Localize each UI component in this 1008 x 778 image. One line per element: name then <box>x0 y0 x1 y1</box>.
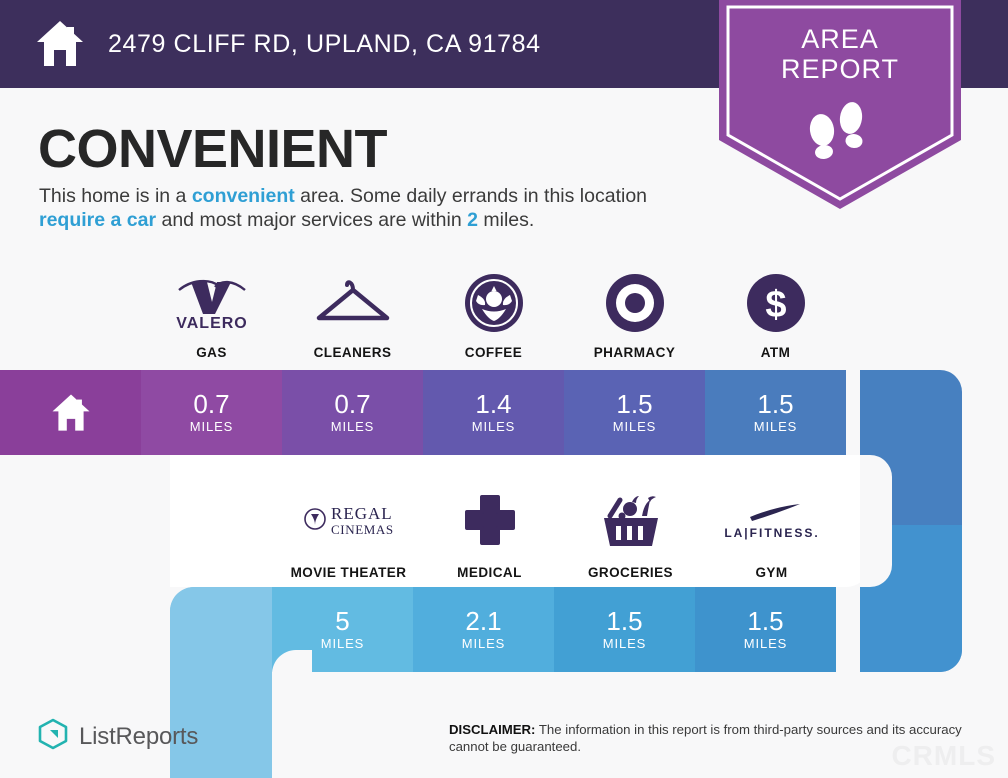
bar2-lead-segment <box>170 587 272 672</box>
distance-value: 5 <box>335 608 349 635</box>
amenity-cleaners: CLEANERS <box>282 272 423 360</box>
amenity-gym: LA|FITNESS. GYM <box>701 492 842 580</box>
distance-value: 0.7 <box>334 391 370 418</box>
regal-cinemas-logo-icon: REGAL CINEMAS <box>301 492 397 554</box>
distance-bar-row-1: 0.7 MILES 0.7 MILES 1.4 MILES 1.5 MILES … <box>0 370 846 455</box>
distance-segment-gas: 0.7 MILES <box>141 370 282 455</box>
grocery-basket-icon <box>598 492 664 554</box>
summary-highlight-1: convenient <box>192 185 295 207</box>
distance-value: 1.4 <box>475 391 511 418</box>
distance-unit: MILES <box>331 419 375 434</box>
badge-line-1: AREA <box>719 24 961 54</box>
amenity-medical: MEDICAL <box>419 492 560 580</box>
svg-text:REGAL: REGAL <box>331 504 393 523</box>
distance-unit: MILES <box>472 419 516 434</box>
amenity-icon-row-2: REGAL CINEMAS MOVIE THEATER MEDICAL <box>278 492 842 580</box>
amenity-label: PHARMACY <box>594 345 676 360</box>
amenity-label: GYM <box>755 565 787 580</box>
amenity-icon-row-1: VALERO GAS CLEANERS <box>141 272 846 360</box>
summary-highlight-3: 2 <box>467 209 478 231</box>
badge-text: AREA REPORT <box>719 24 961 84</box>
disclaimer-label: DISCLAIMER: <box>449 722 535 737</box>
la-fitness-logo-icon: LA|FITNESS. <box>724 492 820 554</box>
target-bullseye-icon <box>605 272 665 334</box>
listreports-house-icon <box>38 718 68 755</box>
distance-segment-pharmacy: 1.5 MILES <box>564 370 705 455</box>
distance-segment-coffee: 1.4 MILES <box>423 370 564 455</box>
dollar-circle-icon: $ <box>746 272 806 334</box>
svg-text:VALERO: VALERO <box>176 315 247 332</box>
distance-segment-cleaners: 0.7 MILES <box>282 370 423 455</box>
starbucks-logo-icon <box>464 272 524 334</box>
home-icon <box>34 19 86 69</box>
page-title: CONVENIENT <box>38 118 387 180</box>
amenity-label: COFFEE <box>465 345 522 360</box>
home-icon <box>49 392 93 434</box>
distance-unit: MILES <box>462 636 506 651</box>
summary-highlight-2: require a car <box>39 209 156 231</box>
hanger-icon <box>311 272 395 334</box>
svg-text:$: $ <box>765 284 786 326</box>
area-report-badge: AREA REPORT <box>719 0 961 209</box>
amenity-groceries: GROCERIES <box>560 492 701 580</box>
connector-right-notch <box>860 455 892 587</box>
distance-value: 2.1 <box>465 608 501 635</box>
amenity-label: GAS <box>196 345 227 360</box>
badge-line-2: REPORT <box>719 54 961 84</box>
distance-value: 1.5 <box>747 608 783 635</box>
amenity-label: GROCERIES <box>588 565 673 580</box>
disclaimer: DISCLAIMER: The information in this repo… <box>449 722 974 755</box>
summary-part-4: miles. <box>478 209 534 231</box>
distance-value: 0.7 <box>193 391 229 418</box>
svg-text:CINEMAS: CINEMAS <box>331 522 394 537</box>
distance-value: 1.5 <box>757 391 793 418</box>
area-report-page: 2479 CLIFF RD, UPLAND, CA 91784 AREA REP… <box>0 0 1008 778</box>
amenity-movie-theater: REGAL CINEMAS MOVIE THEATER <box>278 492 419 580</box>
connector-left-notch <box>272 650 312 778</box>
distance-unit: MILES <box>613 419 657 434</box>
amenity-label: MEDICAL <box>457 565 522 580</box>
distance-segment-groceries: 1.5 MILES <box>554 587 695 672</box>
home-segment <box>0 370 141 455</box>
valero-logo-icon: VALERO <box>169 272 255 334</box>
medical-cross-icon <box>461 492 519 554</box>
distance-bar-row-2: 5 MILES 2.1 MILES 1.5 MILES 1.5 MILES <box>170 587 836 672</box>
amenity-label: ATM <box>761 345 791 360</box>
amenity-coffee: COFFEE <box>423 272 564 360</box>
listreports-wordmark: ListReports <box>79 723 198 751</box>
distance-unit: MILES <box>603 636 647 651</box>
distance-unit: MILES <box>744 636 788 651</box>
svg-text:LA|FITNESS.: LA|FITNESS. <box>724 526 819 540</box>
amenity-label: CLEANERS <box>314 345 392 360</box>
amenity-gas: VALERO GAS <box>141 272 282 360</box>
distance-segment-atm: 1.5 MILES <box>705 370 846 455</box>
summary-part-3: and most major services are within <box>156 209 467 231</box>
amenity-atm: $ ATM <box>705 272 846 360</box>
distance-segment-medical: 2.1 MILES <box>413 587 554 672</box>
amenity-pharmacy: PHARMACY <box>564 272 705 360</box>
summary-part-2: area. Some daily errands in this locatio… <box>295 185 647 207</box>
distance-value: 1.5 <box>616 391 652 418</box>
distance-unit: MILES <box>190 419 234 434</box>
amenity-label: MOVIE THEATER <box>291 565 407 580</box>
distance-value: 1.5 <box>606 608 642 635</box>
distance-unit: MILES <box>321 636 365 651</box>
listreports-brand[interactable]: ListReports <box>38 718 198 755</box>
summary-part-1: This home is in a <box>39 185 192 207</box>
distance-unit: MILES <box>754 419 798 434</box>
distance-segment-gym: 1.5 MILES <box>695 587 836 672</box>
summary-text: This home is in a convenient area. Some … <box>39 185 699 232</box>
property-address: 2479 CLIFF RD, UPLAND, CA 91784 <box>108 30 541 59</box>
